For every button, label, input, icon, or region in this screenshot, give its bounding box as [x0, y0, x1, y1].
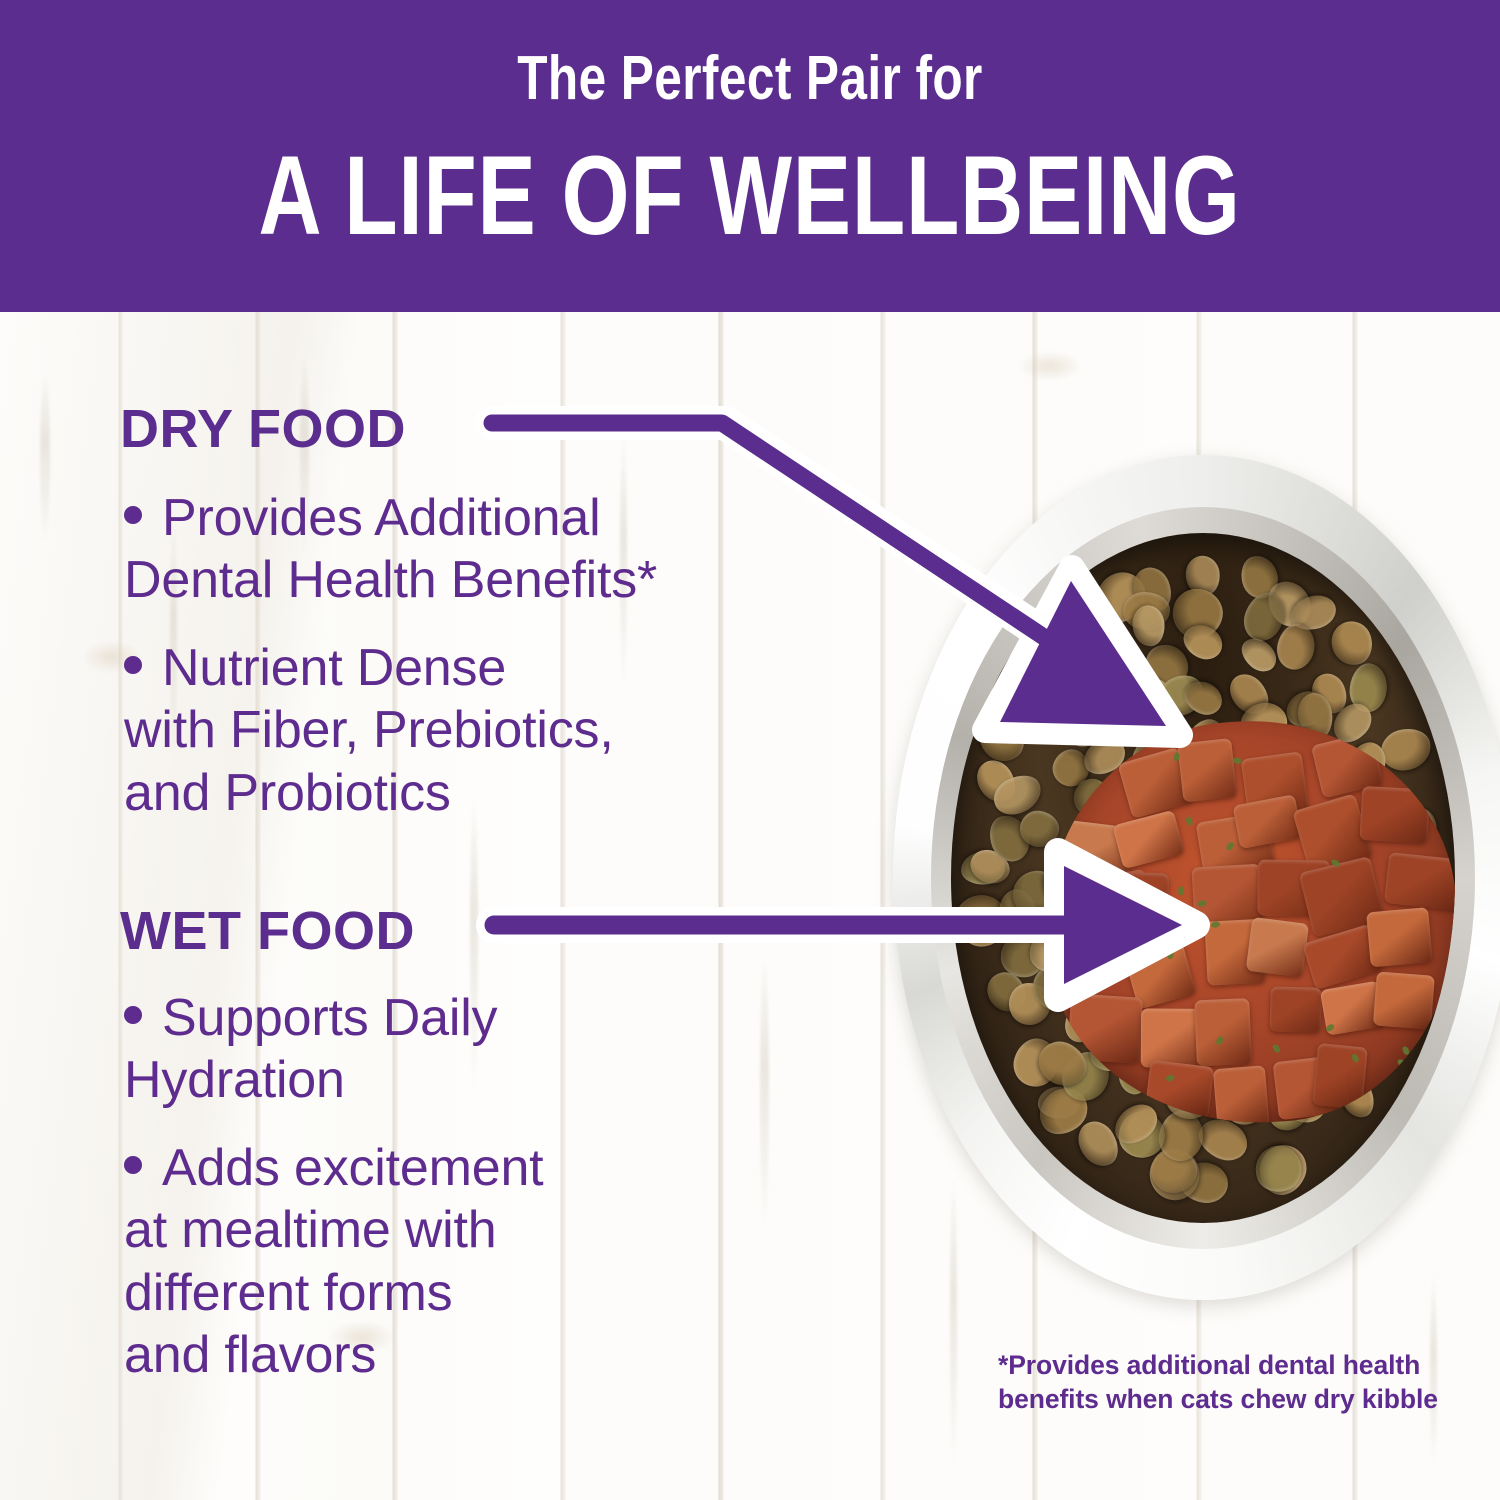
footnote-line-2: benefits when cats chew dry kibble — [998, 1384, 1438, 1414]
wet-food-chunk — [1233, 795, 1303, 850]
wet-bullet-1-line-2: Hydration — [124, 1051, 345, 1109]
wet-food-chunk — [1360, 786, 1431, 844]
wet-food-chunk — [1384, 852, 1455, 910]
wet-food-chunk — [1113, 810, 1185, 869]
bullet-dot-icon — [124, 506, 142, 524]
wet-food-chunk — [1144, 1060, 1214, 1119]
bullet-dot-icon — [124, 1156, 142, 1174]
wet-food-chunk — [1067, 993, 1143, 1064]
wet-food-chunk — [1366, 907, 1433, 968]
pet-food-bowl-image — [893, 455, 1500, 1300]
kibble-piece — [1236, 632, 1283, 678]
footnote-line-1: *Provides additional dental health — [998, 1350, 1420, 1380]
herb-fleck — [1396, 1058, 1407, 1068]
kibble-piece — [971, 708, 1033, 770]
bullet-dot-icon — [124, 1006, 142, 1024]
herb-fleck — [1401, 1045, 1410, 1056]
wet-food-heading: WET FOOD — [120, 904, 415, 958]
wet-bullet-2-line-3: different forms — [124, 1264, 452, 1322]
dry-bullet-2-line-1: Nutrient Dense — [162, 639, 506, 697]
wet-food-bullet-2: Adds excitement at mealtime with differe… — [124, 1137, 824, 1387]
wet-food-chunk — [1245, 917, 1308, 978]
wet-bullet-2-line-4: and flavors — [124, 1326, 376, 1384]
dry-food-heading: DRY FOOD — [120, 402, 406, 456]
wet-food-bullet-1: Supports Daily Hydration — [124, 987, 824, 1112]
wet-food-chunk — [1312, 1043, 1368, 1110]
kibble-piece — [1249, 1140, 1308, 1199]
infographic-page: The Perfect Pair for A LIFE OF WELLBEING — [0, 0, 1500, 1500]
herb-fleck — [1185, 816, 1194, 827]
wet-food-chunk — [1065, 926, 1125, 977]
wet-bullet-2-line-2: at mealtime with — [124, 1201, 496, 1259]
dry-food-bullet-2: Nutrient Dense with Fiber, Prebiotics, a… — [124, 637, 824, 824]
kibble-piece — [1327, 617, 1378, 670]
wet-food-chunk — [1194, 998, 1252, 1066]
wet-food-chunk — [1212, 1065, 1270, 1132]
dry-bullet-1-line-2: Dental Health Benefits* — [124, 551, 657, 609]
dry-bullet-1-line-1: Provides Additional — [162, 489, 600, 547]
page-title: A LIFE OF WELLBEING — [259, 140, 1241, 252]
dry-bullet-2-line-3: and Probiotics — [124, 764, 451, 822]
dry-food-bullet-1: Provides Additional Dental Health Benefi… — [124, 487, 824, 612]
benefits-content-column: DRY FOOD Provides Additional Dental Heal… — [120, 312, 880, 1500]
herb-fleck — [1271, 1043, 1281, 1054]
dry-bullet-2-line-2: with Fiber, Prebiotics, — [124, 701, 614, 759]
wet-food-chunk — [1373, 971, 1435, 1029]
bowl-interior — [951, 533, 1455, 1223]
wet-bullet-2-line-1: Adds excitement — [162, 1139, 543, 1197]
footnote-disclaimer: *Provides additional dental health benef… — [998, 1348, 1468, 1417]
herb-fleck — [1178, 886, 1185, 895]
bullet-dot-icon — [124, 656, 142, 674]
header-eyebrow: The Perfect Pair for — [517, 48, 983, 110]
wet-bullet-1-line-1: Supports Daily — [162, 989, 497, 1047]
wet-food-chunk — [1270, 987, 1322, 1033]
wet-food-chunk — [1177, 738, 1238, 802]
header-banner: The Perfect Pair for A LIFE OF WELLBEING — [0, 0, 1500, 312]
wet-food-chunk — [1116, 872, 1170, 928]
